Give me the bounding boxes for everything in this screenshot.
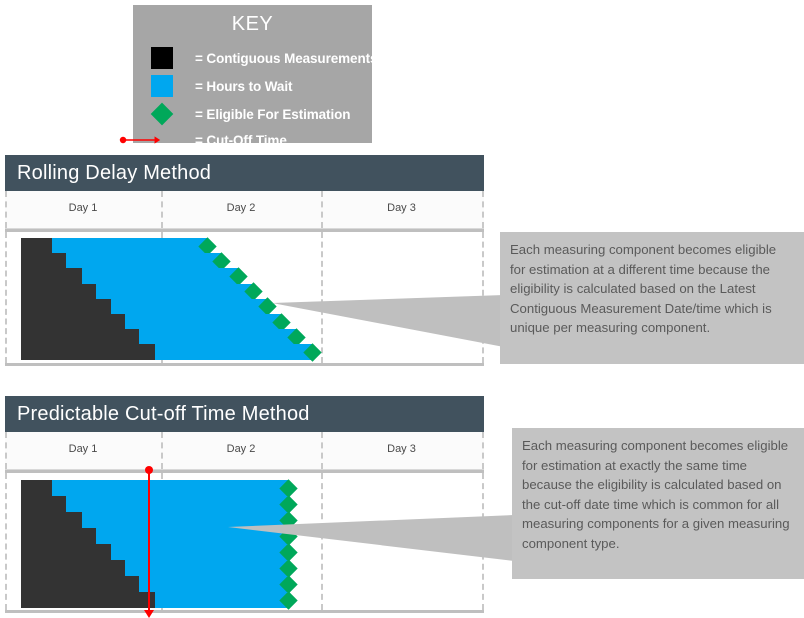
bar-segment-hours-to-wait <box>96 284 253 300</box>
bar-segment-contiguous <box>21 238 52 254</box>
callout-rolling-delay: Each measuring component becomes eligibl… <box>500 232 804 364</box>
bar-segment-contiguous <box>21 560 125 576</box>
grid-divider <box>5 232 7 363</box>
bar-segment-contiguous <box>21 253 66 269</box>
bar-segment-hours-to-wait <box>66 496 289 512</box>
day-label: Day 2 <box>161 202 321 214</box>
day-divider <box>482 191 484 228</box>
key-item-label: = Cut-Off Time <box>195 133 287 148</box>
grid-divider <box>5 473 7 610</box>
key-item-label: = Eligible For Estimation <box>195 107 350 122</box>
bar-segment-contiguous <box>21 512 82 528</box>
bar-segment-hours-to-wait <box>82 268 239 284</box>
red-arrow-icon <box>119 134 195 146</box>
bar-segment-contiguous <box>21 344 155 360</box>
bar-segment-hours-to-wait <box>139 576 289 592</box>
bar-segment-hours-to-wait <box>125 314 282 330</box>
key-item-cutoff: = Cut-Off Time <box>119 128 287 152</box>
section-title: Predictable Cut-off Time Method <box>5 396 484 432</box>
blue-square-icon <box>151 75 195 97</box>
bar-segment-contiguous <box>21 528 96 544</box>
day-axis: Day 1 Day 2 Day 3 <box>5 191 484 229</box>
bar-segment-contiguous <box>21 329 139 345</box>
key-item-eligible: = Eligible For Estimation <box>151 102 350 126</box>
bar-segment-contiguous <box>21 576 139 592</box>
bar-segment-contiguous <box>21 592 155 608</box>
callout-text: Each measuring component becomes eligibl… <box>522 438 790 551</box>
bar-segment-contiguous <box>21 299 111 315</box>
bar-segment-contiguous <box>21 544 111 560</box>
section-title: Rolling Delay Method <box>5 155 484 191</box>
key-legend-box: KEY = Contiguous Measurements = Hours to… <box>133 5 372 143</box>
cutoff-start-dot <box>145 466 153 474</box>
key-item-hours-to-wait: = Hours to Wait <box>151 74 292 98</box>
bar-segment-hours-to-wait <box>111 299 268 315</box>
key-title: KEY <box>133 13 372 36</box>
green-diamond-icon <box>151 106 195 122</box>
callout-pointer <box>228 515 514 561</box>
day-label: Day 3 <box>321 202 482 214</box>
day-label: Day 2 <box>161 443 321 455</box>
day-label: Day 3 <box>321 443 482 455</box>
bar-segment-hours-to-wait <box>66 253 222 269</box>
bar-segment-contiguous <box>21 314 125 330</box>
key-item-label: = Contiguous Measurements <box>195 51 377 66</box>
day-label: Day 1 <box>5 202 161 214</box>
section-predictable-cutoff: Predictable Cut-off Time Method Day 1 Da… <box>5 396 484 613</box>
day-divider <box>482 432 484 469</box>
key-item-label: = Hours to Wait <box>195 79 292 94</box>
bar-segment-hours-to-wait <box>52 238 208 254</box>
callout-text: Each measuring component becomes eligibl… <box>510 242 776 335</box>
day-axis: Day 1 Day 2 Day 3 <box>5 432 484 470</box>
bar-segment-hours-to-wait <box>155 592 289 608</box>
bar-segment-contiguous <box>21 268 82 284</box>
day-label: Day 1 <box>5 443 161 455</box>
bar-segment-contiguous <box>21 480 52 496</box>
callout-pointer <box>272 295 504 347</box>
callout-predictable-cutoff: Each measuring component becomes eligibl… <box>512 428 804 579</box>
bar-segment-contiguous <box>21 496 66 512</box>
black-square-icon <box>151 47 195 69</box>
bar-segment-hours-to-wait <box>52 480 289 496</box>
cutoff-time-line <box>148 470 150 610</box>
key-item-contiguous: = Contiguous Measurements <box>151 46 377 70</box>
cutoff-arrow-head <box>144 610 154 618</box>
bar-segment-contiguous <box>21 284 96 300</box>
